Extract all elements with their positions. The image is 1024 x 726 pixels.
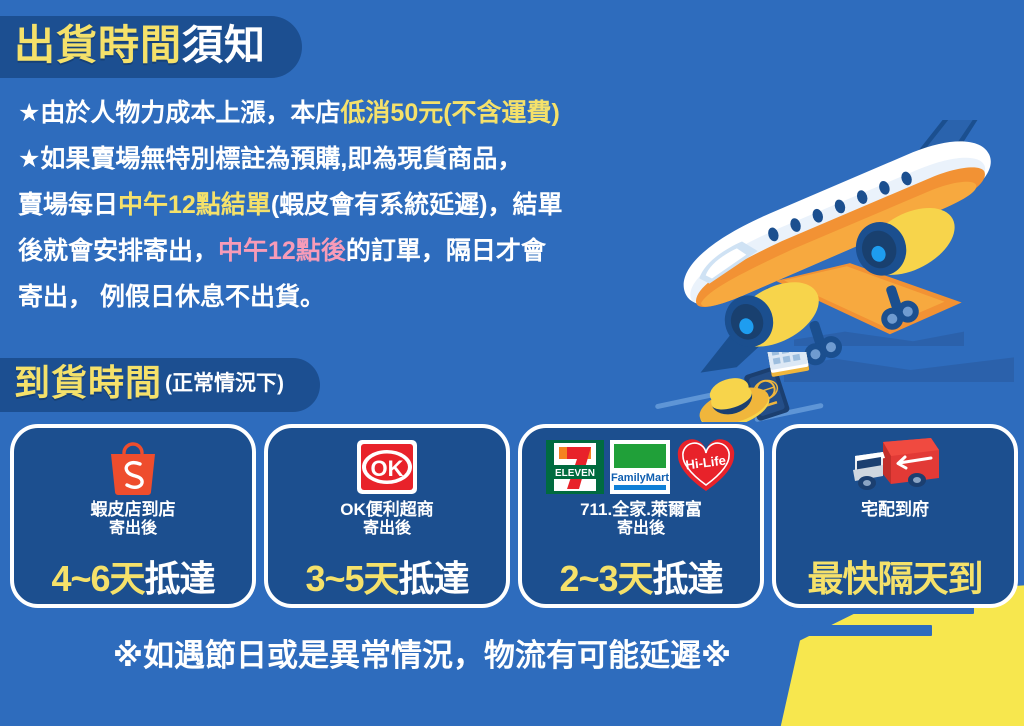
card-days-tail-convenience-stores: 抵達: [653, 558, 723, 599]
notice-3-seg-1: 中午12點結單: [118, 191, 271, 219]
delivery-card-okmart[interactable]: OK OK便利超商 寄出後 3~5天抵達: [264, 424, 510, 608]
delivery-card-home-delivery[interactable]: 宅配到府 最快隔天到: [772, 424, 1018, 608]
card-label-shopee: 蝦皮店到店: [91, 500, 176, 520]
notice-line-3: 賣場每日中午12點結單(蝦皮會有系統延遲)，結單: [18, 192, 562, 218]
card-days-tail-shopee: 抵達: [145, 558, 215, 599]
delivery-card-shopee[interactable]: 蝦皮店到店 寄出後 4~6天抵達: [10, 424, 256, 608]
notice-line-1: ★由於人物力成本上漲，本店低消50元(不含運費): [18, 100, 560, 126]
bottom-left-yellow-wedge: [0, 682, 110, 726]
delivery-card-convenience-stores[interactable]: ELEVEN FamilyMart Hi-Life 711.全家.萊爾富 寄出後: [518, 424, 764, 608]
notice-2-seg-0: ★如果賣場無特別標註為預購,即為現貨商品，: [18, 145, 522, 173]
seven-eleven-icon: ELEVEN: [545, 439, 605, 495]
card-days-number-shopee: 4~6天: [51, 558, 144, 599]
card-days-number-home-delivery: 最快隔天到: [807, 558, 982, 599]
notice-line-4: 後就會安排寄出，中午12點後的訂單，隔日才會: [18, 238, 546, 264]
card-days-number-okmart: 3~5天: [305, 558, 398, 599]
shipping-title-rest: 須知: [182, 25, 266, 66]
card-days-tail-okmart: 抵達: [399, 558, 469, 599]
delivery-truck-icon: [843, 436, 947, 498]
card-days-convenience-stores: 2~3天抵達: [559, 561, 722, 597]
seven-eleven-label: ELEVEN: [555, 468, 595, 479]
convenience-store-logo-group: ELEVEN FamilyMart Hi-Life: [545, 436, 737, 498]
card-days-shopee: 4~6天抵達: [51, 561, 214, 597]
arrival-title-highlight: 到貨時間: [14, 365, 162, 401]
svg-text:OK: OK: [371, 456, 404, 481]
notice-1-seg-1: 低消50元(不含運費): [340, 99, 559, 127]
notice-line-5: 寄出， 例假日休息不出貨。: [18, 284, 325, 310]
okmart-logo-group: OK: [354, 436, 420, 498]
home-delivery-logo-group: [843, 436, 947, 498]
card-sub-shopee: 寄出後: [109, 520, 157, 538]
card-days-home-delivery: 最快隔天到: [807, 561, 982, 597]
footer-note: ※如遇節日或是異常情況，物流有可能延遲※: [0, 630, 1024, 675]
familymart-label: FamilyMart: [611, 472, 669, 484]
ok-mart-icon: OK: [354, 438, 420, 496]
travel-items-icon: [696, 352, 846, 422]
card-sub-okmart: 寄出後: [363, 520, 411, 538]
shopee-bag-icon: [102, 437, 164, 497]
delivery-options-list: 蝦皮店到店 寄出後 4~6天抵達 OK OK便利超商 寄出後 3~5天抵達: [10, 424, 1018, 608]
card-label-okmart: OK便利超商: [340, 500, 434, 520]
notice-1-seg-0: ★由於人物力成本上漲，本店: [18, 99, 340, 127]
card-sub-convenience-stores: 寄出後: [617, 520, 665, 538]
card-days-number-convenience-stores: 2~3天: [559, 558, 652, 599]
card-label-home-delivery: 宅配到府: [861, 500, 929, 520]
airplane-takeoff-icon: [610, 120, 1024, 390]
notice-5-seg-0: 寄出， 例假日休息不出貨。: [18, 283, 325, 311]
notice-3-seg-0: 賣場每日: [18, 191, 118, 219]
card-days-okmart: 3~5天抵達: [305, 561, 468, 597]
notice-3-seg-2: (蝦皮會有系統延遲)，結單: [271, 191, 563, 219]
shipping-section-title-pill: 出貨時間 須知: [0, 16, 302, 78]
notice-line-2: ★如果賣場無特別標註為預購,即為現貨商品，: [18, 146, 522, 172]
shipping-title-highlight: 出貨時間: [14, 25, 182, 66]
hilife-icon: Hi-Life: [675, 439, 737, 495]
familymart-icon: FamilyMart: [609, 439, 671, 495]
shipping-info-poster: 出貨時間 須知 ★由於人物力成本上漲，本店低消50元(不含運費) ★如果賣場無特…: [0, 0, 1024, 726]
notice-4-seg-2: 的訂單，隔日才會: [346, 237, 546, 265]
notice-4-seg-0: 後就會安排寄出，: [18, 237, 218, 265]
notice-4-seg-1: 中午12點後: [218, 237, 346, 265]
arrival-title-sub: (正常情況下): [165, 367, 284, 399]
arrival-section-title-pill: 到貨時間 (正常情況下): [0, 358, 320, 412]
shopee-logo-group: [102, 436, 164, 498]
card-label-convenience-stores: 711.全家.萊爾富: [580, 500, 702, 520]
